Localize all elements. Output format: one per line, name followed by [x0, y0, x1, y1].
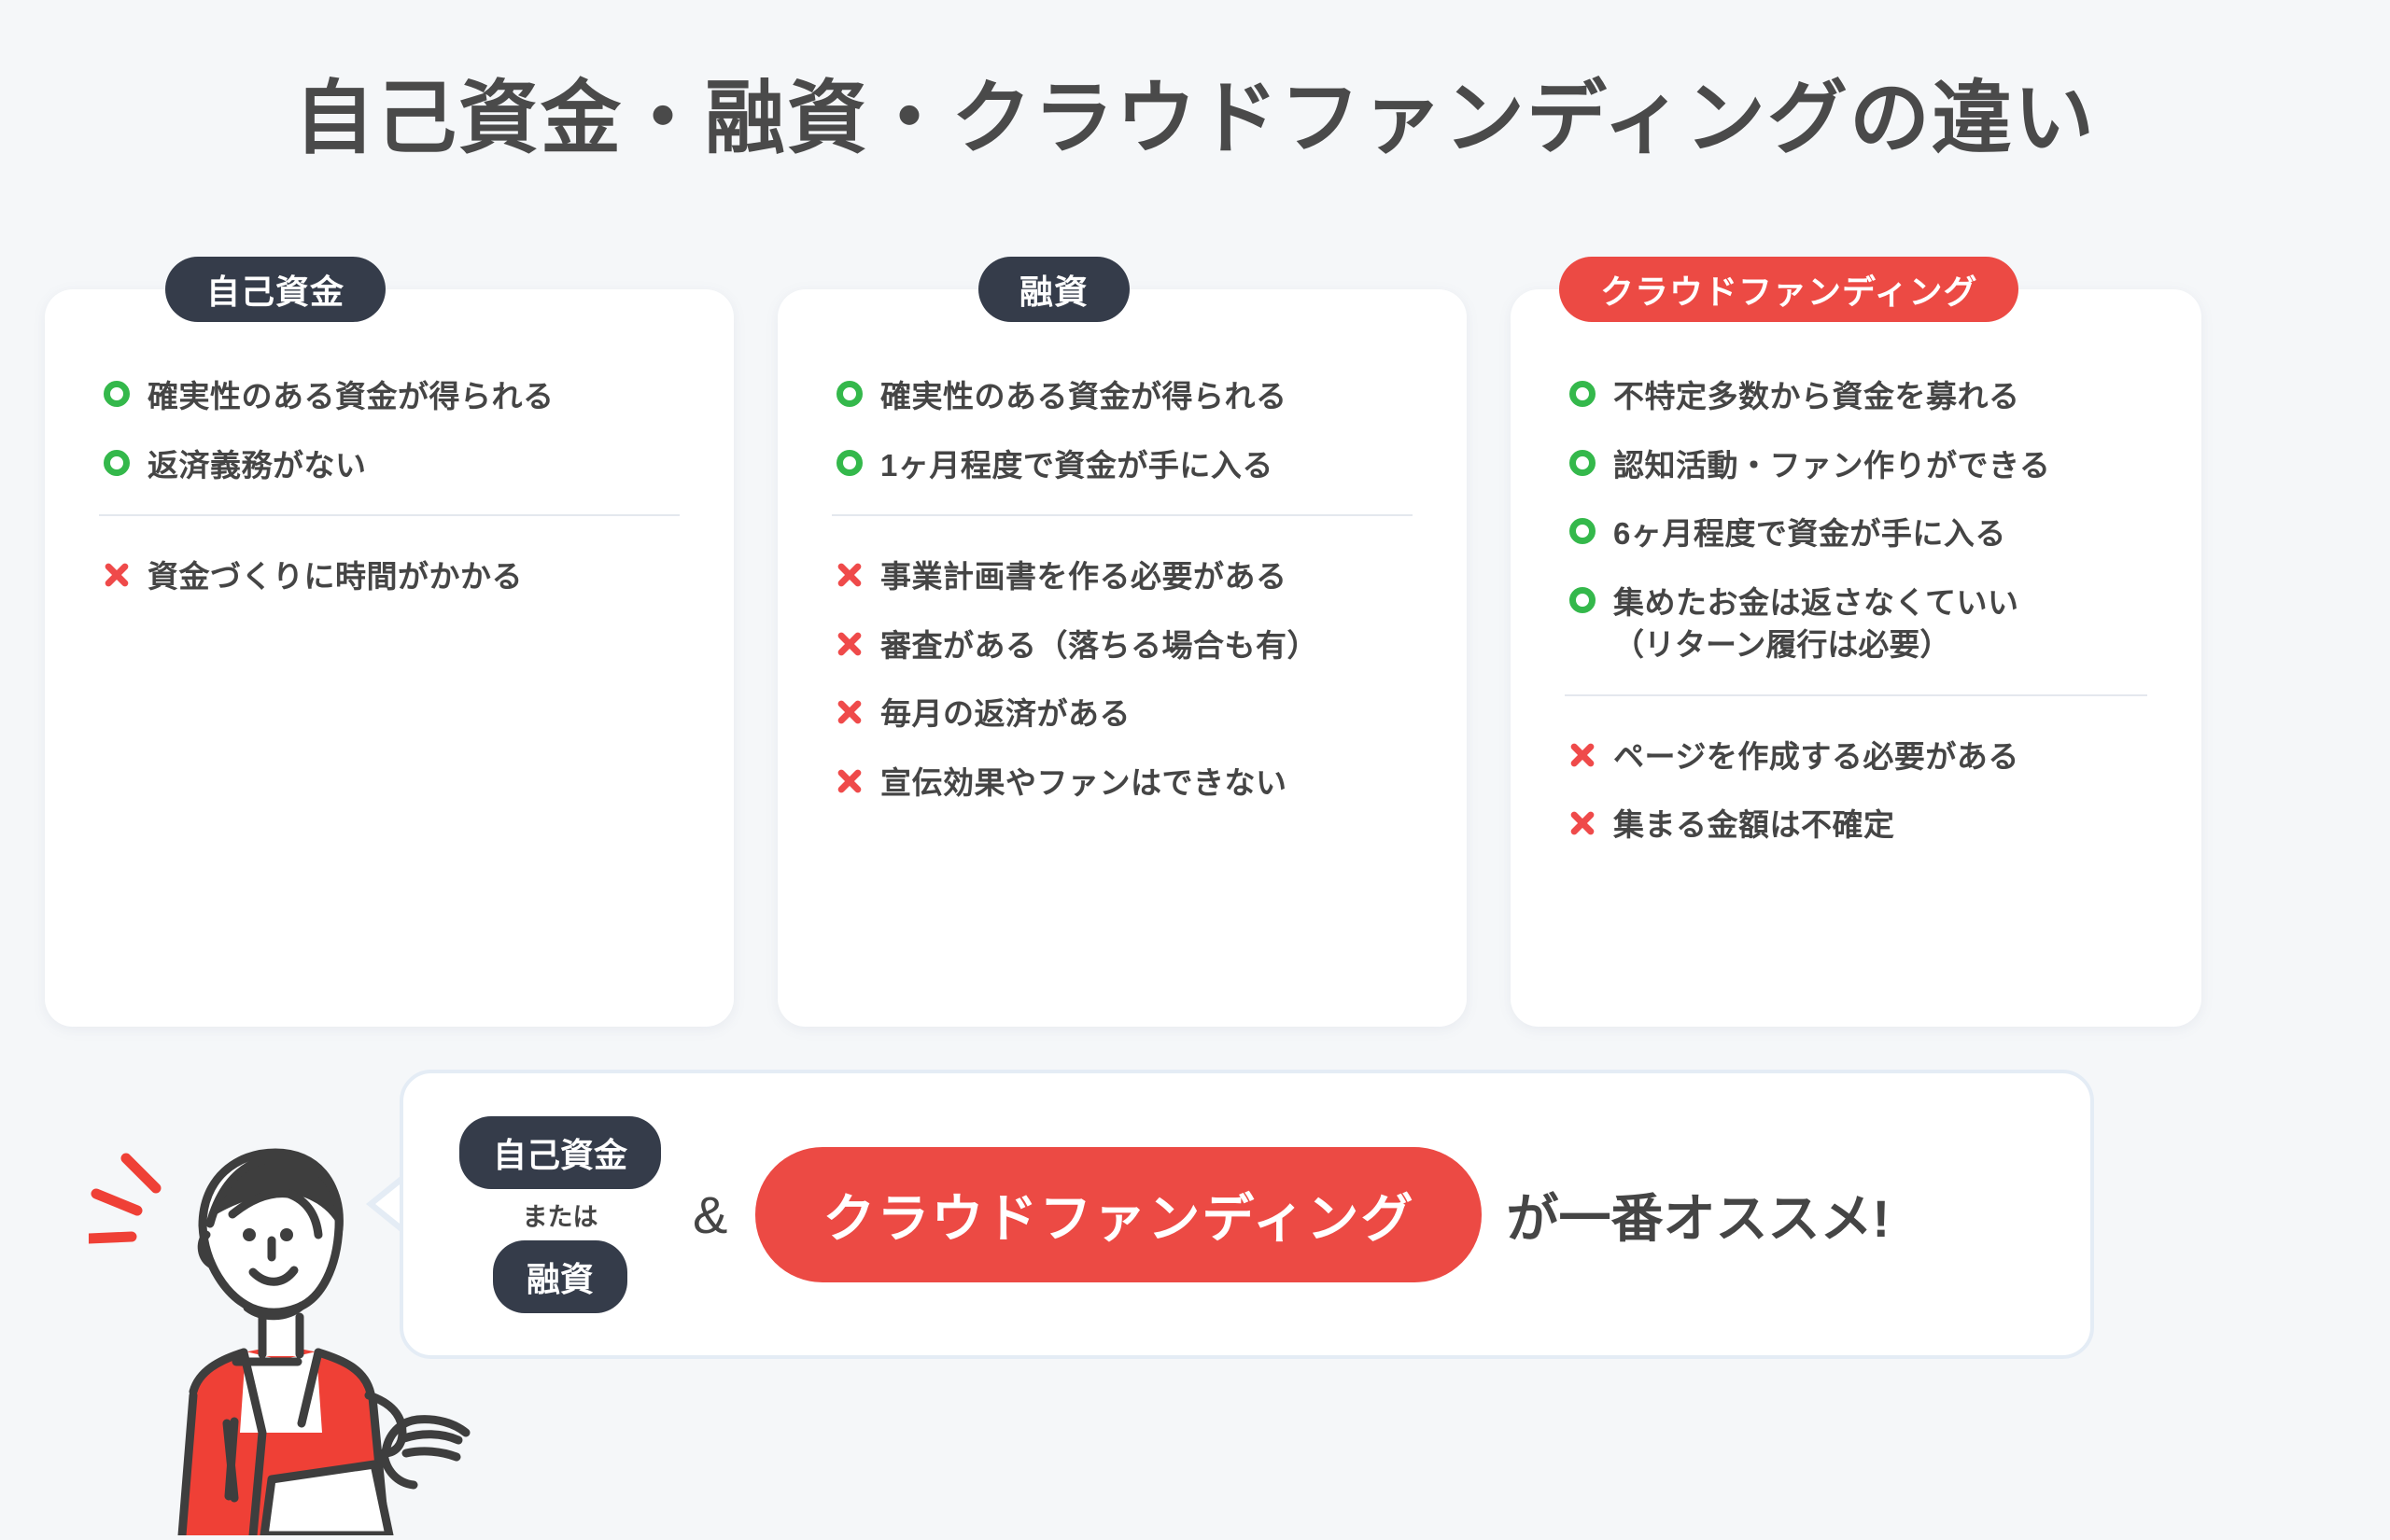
cross-mark-icon: [99, 555, 134, 589]
person-presenting-illustration: [89, 1125, 527, 1535]
list-item: 宣伝効果やファンはできない: [832, 762, 1413, 805]
recommendation-suffix: が一番オススメ!: [1506, 1177, 1890, 1253]
card-crowdfunding: クラウドファンディング 不特定多数から資金を募れる 認知活動・ファン作りができる…: [1511, 289, 2201, 1027]
comparison-cards: 自己資金 確実性のある資金が得られる 返済義務がない 資金づくりに時間がかかる …: [45, 289, 2201, 1027]
cross-mark-icon: [832, 693, 867, 726]
list-item: 集めたお金は返さなくていい （リターン履行は必要）: [1565, 581, 2147, 666]
list-item: ページを作成する必要がある: [1565, 735, 2147, 778]
list-item-label: ページを作成する必要がある: [1613, 735, 2019, 778]
recommendation-row: 自己資金 または 融資 & クラウドファンディング が一番オススメ!: [403, 1073, 2090, 1355]
list-item: 返済義務がない: [99, 444, 680, 487]
list-item-label: 不特定多数から資金を募れる: [1613, 375, 2020, 418]
card-body-self-funding: 確実性のある資金が得られる 返済義務がない 資金づくりに時間がかかる: [45, 375, 734, 598]
circle-ring-icon: [1565, 444, 1600, 476]
list-item: 確実性のある資金が得られる: [832, 375, 1413, 418]
list-item-label: 毎月の返済がある: [880, 693, 1131, 735]
list-item-label: 返済義務がない: [148, 444, 367, 487]
section-divider: [1565, 694, 2147, 696]
circle-ring-icon: [1565, 581, 1600, 613]
list-item: 1ヶ月程度で資金が手に入る: [832, 444, 1413, 487]
card-badge-self-funding: 自己資金: [165, 257, 386, 322]
list-item-label: 集まる金額は不確定: [1613, 804, 1895, 847]
list-item-label: 事業計画書を作る必要がある: [880, 555, 1287, 598]
list-item: 集まる金額は不確定: [1565, 804, 2147, 847]
recommendation-conjunction: &: [693, 1184, 727, 1245]
recommendation-or-label: または: [523, 1197, 598, 1233]
list-item-label-group: 集めたお金は返さなくていい （リターン履行は必要）: [1613, 581, 2019, 666]
card-self-funding: 自己資金 確実性のある資金が得られる 返済義務がない 資金づくりに時間がかかる: [45, 289, 734, 1027]
list-item: 毎月の返済がある: [832, 693, 1413, 735]
circle-ring-icon: [1565, 375, 1600, 407]
list-item: 認知活動・ファン作りができる: [1565, 444, 2147, 487]
list-item-label: 集めたお金は返さなくていい: [1613, 585, 2019, 620]
section-divider: [832, 514, 1413, 516]
card-badge-loan: 融資: [978, 257, 1130, 322]
cross-mark-icon: [832, 762, 867, 795]
list-item-label: 1ヶ月程度で資金が手に入る: [880, 444, 1273, 487]
circle-ring-icon: [99, 375, 134, 407]
list-item-label: 確実性のある資金が得られる: [880, 375, 1287, 418]
circle-ring-icon: [832, 444, 867, 476]
list-item-label: 宣伝効果やファンはできない: [880, 762, 1287, 805]
list-item: 資金づくりに時間がかかる: [99, 555, 680, 598]
recommendation-bubble: 自己資金 または 融資 & クラウドファンディング が一番オススメ!: [400, 1070, 2094, 1359]
list-item: 確実性のある資金が得られる: [99, 375, 680, 418]
card-badge-crowdfunding: クラウドファンディング: [1559, 257, 2018, 322]
cross-mark-icon: [1565, 735, 1600, 769]
list-item-label: 審査がある（落ちる場合も有）: [880, 624, 1318, 667]
cross-mark-icon: [832, 555, 867, 589]
list-item: 審査がある（落ちる場合も有）: [832, 624, 1413, 667]
list-item: 事業計画書を作る必要がある: [832, 555, 1413, 598]
list-item-label: 認知活動・ファン作りができる: [1613, 444, 2050, 487]
card-loan: 融資 確実性のある資金が得られる 1ヶ月程度で資金が手に入る 事業計画書を作る必…: [778, 289, 1467, 1027]
card-body-loan: 確実性のある資金が得られる 1ヶ月程度で資金が手に入る 事業計画書を作る必要があ…: [778, 375, 1467, 804]
list-item-label: 6ヶ月程度で資金が手に入る: [1613, 512, 2006, 555]
card-body-crowdfunding: 不特定多数から資金を募れる 認知活動・ファン作りができる 6ヶ月程度で資金が手に…: [1511, 375, 2201, 847]
list-item-label: 資金づくりに時間がかかる: [148, 555, 523, 598]
section-divider: [99, 514, 680, 516]
list-item: 6ヶ月程度で資金が手に入る: [1565, 512, 2147, 555]
list-item-label-continuation: （リターン履行は必要）: [1613, 623, 2019, 666]
list-item: 不特定多数から資金を募れる: [1565, 375, 2147, 418]
cross-mark-icon: [832, 624, 867, 658]
circle-ring-icon: [1565, 512, 1600, 544]
circle-ring-icon: [832, 375, 867, 407]
page-title: 自己資金・融資・クラウドファンディングの違い: [0, 52, 2390, 169]
circle-ring-icon: [99, 444, 134, 476]
list-item-label: 確実性のある資金が得られる: [148, 375, 555, 418]
recommendation-highlight-crowdfunding: クラウドファンディング: [755, 1147, 1482, 1282]
cross-mark-icon: [1565, 804, 1600, 837]
emphasis-lines-icon: [89, 1158, 156, 1239]
